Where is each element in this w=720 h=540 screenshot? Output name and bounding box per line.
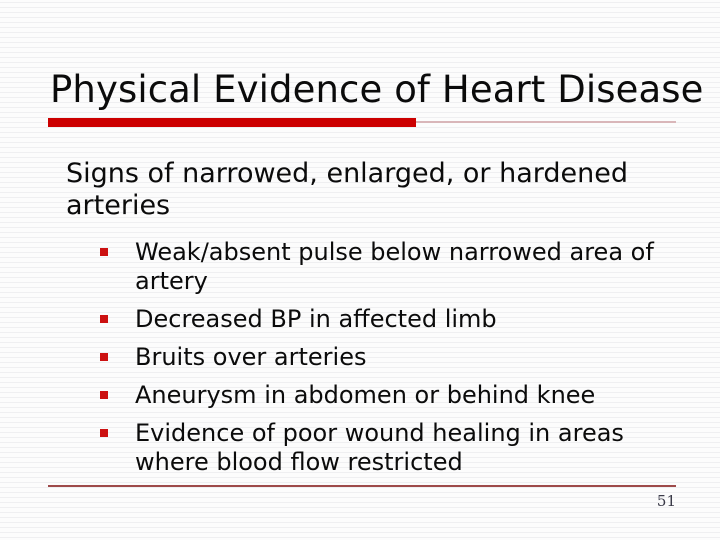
title-underline-bar xyxy=(48,118,676,127)
list-item-label: Weak/absent pulse below narrowed area of… xyxy=(135,238,654,295)
list-item-label: Evidence of poor wound healing in areas … xyxy=(135,419,624,476)
list-item: Weak/absent pulse below narrowed area of… xyxy=(100,238,692,296)
list-item-label: Aneurysm in abdomen or behind knee xyxy=(135,381,595,409)
page-number: 51 xyxy=(657,492,676,510)
list-item-label: Bruits over arteries xyxy=(135,343,366,371)
bullet-list: Weak/absent pulse below narrowed area of… xyxy=(100,238,692,477)
square-bullet-icon xyxy=(100,315,108,323)
list-item: Evidence of poor wound healing in areas … xyxy=(100,419,692,477)
list-item: Bruits over arteries xyxy=(100,343,692,372)
list-item: Aneurysm in abdomen or behind knee xyxy=(100,381,692,410)
square-bullet-icon xyxy=(100,429,108,437)
title-underline-accent xyxy=(48,118,416,127)
lead-paragraph: Signs of narrowed, enlarged, or hardened… xyxy=(66,158,666,222)
square-bullet-icon xyxy=(100,353,108,361)
list-item: Decreased BP in affected limb xyxy=(100,305,692,334)
slide-title: Physical Evidence of Heart Disease xyxy=(50,68,690,112)
footer-divider xyxy=(48,485,676,487)
slide-canvas: Physical Evidence of Heart Disease Signs… xyxy=(0,0,720,540)
square-bullet-icon xyxy=(100,391,108,399)
list-item-label: Decreased BP in affected limb xyxy=(135,305,497,333)
square-bullet-icon xyxy=(100,248,108,256)
